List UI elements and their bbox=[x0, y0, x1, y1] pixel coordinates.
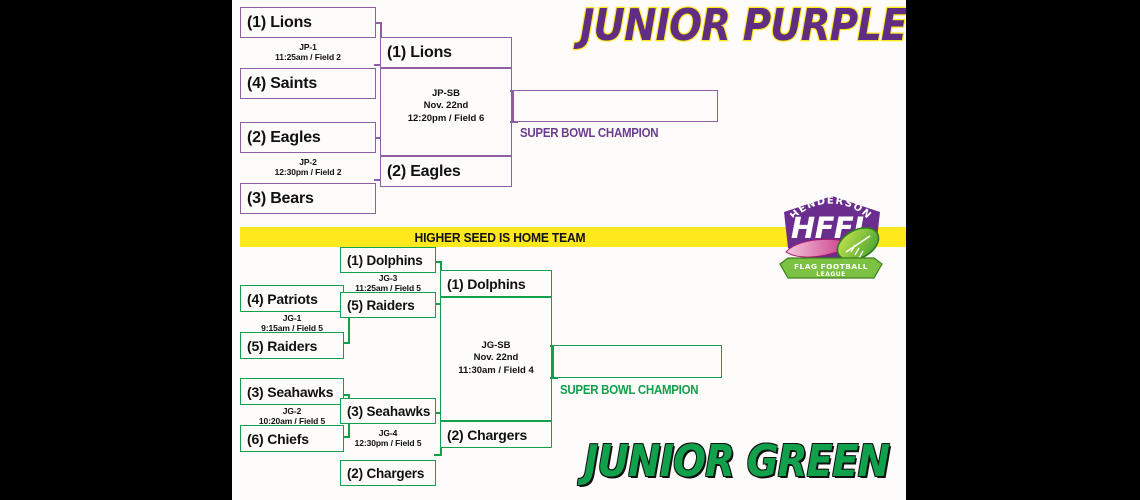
match-id: JP-SB bbox=[380, 88, 512, 100]
team-box-jp2-top[interactable]: (2) Eagles bbox=[240, 122, 376, 153]
match-id: JG-2 bbox=[240, 406, 344, 416]
team-label: (3) Bears bbox=[241, 190, 314, 208]
team-label: (3) Seahawks bbox=[241, 384, 333, 400]
match-info-jg3: JG-3 11:25am / Field 5 bbox=[340, 273, 436, 293]
team-label: (2) Chargers bbox=[441, 427, 527, 443]
team-label: (3) Seahawks bbox=[341, 404, 430, 419]
jp-champion-box[interactable] bbox=[513, 90, 718, 122]
team-label: (5) Raiders bbox=[241, 338, 317, 354]
team-box-jg4-bottom[interactable]: (2) Chargers bbox=[340, 460, 436, 486]
match-date: Nov. 22nd bbox=[380, 100, 512, 112]
match-id: JG-1 bbox=[240, 313, 344, 323]
match-id: JP-1 bbox=[240, 42, 376, 52]
match-time-field: 11:25am / Field 2 bbox=[240, 52, 376, 62]
team-box-jg-final-top[interactable]: (1) Dolphins bbox=[440, 270, 552, 297]
team-label: (1) Dolphins bbox=[341, 253, 423, 268]
match-info-jg2: JG-2 10:20am / Field 5 bbox=[240, 406, 344, 426]
team-label: (2) Eagles bbox=[241, 129, 321, 147]
bracket-poster: (1) Lions (4) Saints JP-1 11:25am / Fiel… bbox=[0, 0, 1140, 500]
team-box-jg1-top[interactable]: (4) Patriots bbox=[240, 285, 344, 312]
match-info-jp2: JP-2 12:30pm / Field 2 bbox=[240, 157, 376, 177]
match-time-field: 12:30pm / Field 2 bbox=[240, 167, 376, 177]
team-box-jp1-top[interactable]: (1) Lions bbox=[240, 7, 376, 38]
team-box-jg4-top[interactable]: (3) Seahawks bbox=[340, 398, 436, 424]
team-label: (6) Chiefs bbox=[241, 431, 309, 447]
team-box-jg3-top[interactable]: (1) Dolphins bbox=[340, 247, 436, 273]
match-info-jp1: JP-1 11:25am / Field 2 bbox=[240, 42, 376, 62]
team-box-jp1-bottom[interactable]: (4) Saints bbox=[240, 68, 376, 99]
letterbox-right bbox=[906, 0, 1140, 500]
team-label: (1) Lions bbox=[241, 14, 312, 32]
team-label: (1) Dolphins bbox=[441, 276, 525, 292]
team-box-jg2-top[interactable]: (3) Seahawks bbox=[240, 378, 344, 405]
team-label: (4) Saints bbox=[241, 75, 317, 93]
team-box-jp-final-top[interactable]: (1) Lions bbox=[380, 37, 512, 68]
connector-jg4-bottom bbox=[434, 454, 442, 456]
match-date: Nov. 22nd bbox=[440, 352, 552, 364]
jg-champion-label: SUPER BOWL CHAMPION bbox=[560, 383, 698, 397]
team-label: (2) Chargers bbox=[341, 466, 424, 481]
match-time-field: 10:20am / Field 5 bbox=[240, 416, 344, 426]
junior-green-title: JUNIOR GREEN bbox=[584, 440, 889, 484]
match-id: JP-2 bbox=[240, 157, 376, 167]
match-info-jg4: JG-4 12:30pm / Field 5 bbox=[340, 428, 436, 448]
junior-purple-title: JUNIOR PURPLE bbox=[580, 4, 906, 48]
higher-seed-banner-text: HIGHER SEED IS HOME TEAM bbox=[258, 227, 742, 247]
jg-champion-box[interactable] bbox=[553, 345, 722, 378]
match-id: JG-4 bbox=[340, 428, 436, 438]
match-time-field: 9:15am / Field 5 bbox=[240, 323, 344, 333]
logo-ribbon-line2: LEAGUE bbox=[816, 271, 845, 278]
hffl-logo: HENDERSON HFFL FLAG FOOTBALL LEAGUE bbox=[772, 182, 890, 290]
team-box-jg1-bottom[interactable]: (5) Raiders bbox=[240, 332, 344, 359]
match-id: JG-SB bbox=[440, 340, 552, 352]
letterbox-left bbox=[0, 0, 232, 500]
jp-champion-label: SUPER BOWL CHAMPION bbox=[520, 126, 658, 140]
team-box-jp-final-bottom[interactable]: (2) Eagles bbox=[380, 156, 512, 187]
match-info-jg-sb: JG-SB Nov. 22nd 11:30am / Field 4 bbox=[440, 340, 552, 377]
match-time-field: 11:25am / Field 5 bbox=[340, 283, 436, 293]
match-time-field: 12:20pm / Field 6 bbox=[380, 113, 512, 125]
poster-canvas: (1) Lions (4) Saints JP-1 11:25am / Fiel… bbox=[232, 0, 906, 500]
team-box-jg2-bottom[interactable]: (6) Chiefs bbox=[240, 425, 344, 452]
match-time-field: 11:30am / Field 4 bbox=[440, 365, 552, 377]
match-id: JG-3 bbox=[340, 273, 436, 283]
team-box-jp2-bottom[interactable]: (3) Bears bbox=[240, 183, 376, 214]
match-time-field: 12:30pm / Field 5 bbox=[340, 438, 436, 448]
match-info-jp-sb: JP-SB Nov. 22nd 12:20pm / Field 6 bbox=[380, 88, 512, 125]
match-info-jg1: JG-1 9:15am / Field 5 bbox=[240, 313, 344, 333]
team-box-jg3-bottom[interactable]: (5) Raiders bbox=[340, 292, 436, 318]
logo-ribbon-line1: FLAG FOOTBALL bbox=[794, 262, 868, 271]
team-label: (2) Eagles bbox=[381, 163, 461, 181]
team-label: (4) Patriots bbox=[241, 291, 318, 307]
team-box-jg-final-bottom[interactable]: (2) Chargers bbox=[440, 421, 552, 448]
team-label: (1) Lions bbox=[381, 44, 452, 62]
team-label: (5) Raiders bbox=[341, 298, 415, 313]
